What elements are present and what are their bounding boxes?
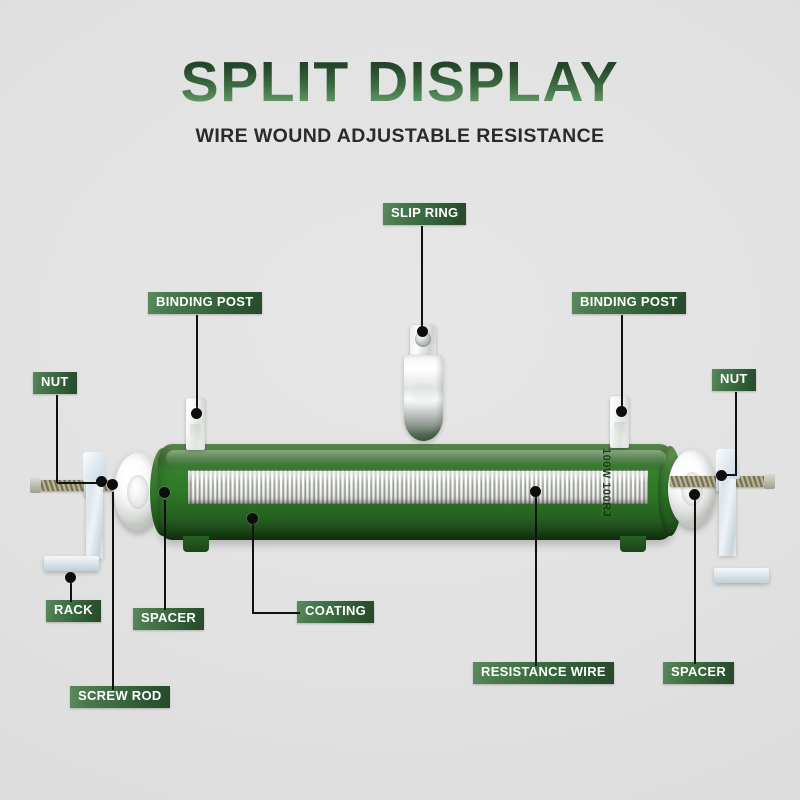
slip-ring-inner-highlight bbox=[411, 383, 436, 405]
resistance-wire-coil bbox=[188, 470, 648, 504]
callout-label-spacer-left: SPACER bbox=[133, 608, 204, 630]
body-lug-right bbox=[620, 536, 646, 552]
leader-dot-spacer-left bbox=[159, 487, 170, 498]
leader-line-spacer-right bbox=[694, 498, 696, 664]
callout-label-binding-post-right: BINDING POST bbox=[572, 292, 686, 314]
leader-dot-binding-post-left bbox=[191, 408, 202, 419]
callout-label-spacer-right: SPACER bbox=[663, 662, 734, 684]
product-diagram-canvas: SPLIT DISPLAY WIRE WOUND ADJUSTABLE RESI… bbox=[0, 0, 800, 800]
leader-dot-binding-post-right bbox=[616, 406, 627, 417]
leader-line-coating-h bbox=[252, 612, 300, 614]
leader-line-nut-right bbox=[735, 392, 737, 474]
callout-label-binding-post-left: BINDING POST bbox=[148, 292, 262, 314]
leader-line-binding-post-right bbox=[621, 315, 623, 411]
body-lug-left bbox=[183, 536, 209, 552]
leader-line-nut-left-h bbox=[57, 482, 101, 484]
rating-print: 100W 100RJ bbox=[590, 448, 612, 538]
callout-label-resistance-wire: RESISTANCE WIRE bbox=[473, 662, 614, 684]
leader-line-nut-left bbox=[56, 395, 58, 483]
leader-dot-slip-ring bbox=[417, 326, 428, 337]
leader-dot-spacer-right bbox=[689, 489, 700, 500]
rack-right-foot bbox=[714, 568, 769, 583]
leader-dot-rack bbox=[65, 572, 76, 583]
page-title: SPLIT DISPLAY bbox=[0, 54, 800, 111]
leader-line-slip-ring bbox=[421, 226, 423, 331]
leader-dot-coating bbox=[247, 513, 258, 524]
header: SPLIT DISPLAY WIRE WOUND ADJUSTABLE RESI… bbox=[0, 0, 800, 148]
rack-left-foot bbox=[44, 556, 99, 571]
leader-line-nut-right-h bbox=[721, 474, 737, 476]
callout-label-rack: RACK bbox=[46, 600, 101, 622]
page-subtitle: WIRE WOUND ADJUSTABLE RESISTANCE bbox=[0, 125, 800, 148]
leader-line-coating-v bbox=[252, 520, 254, 613]
callout-label-nut-right: NUT bbox=[712, 369, 756, 391]
callout-label-nut-left: NUT bbox=[33, 372, 77, 394]
callout-label-screw-rod: SCREW ROD bbox=[70, 686, 170, 708]
leader-line-resistance-wire bbox=[535, 492, 537, 666]
callout-label-slip-ring: SLIP RING bbox=[383, 203, 466, 225]
leader-line-screw-rod bbox=[112, 492, 114, 690]
screw-rod-cap-left bbox=[30, 478, 41, 493]
leader-line-spacer-left bbox=[164, 500, 166, 610]
leader-line-binding-post-left bbox=[196, 315, 198, 413]
binding-post-right bbox=[610, 396, 629, 448]
leader-dot-screw-rod bbox=[107, 479, 118, 490]
screw-rod-cap-right bbox=[764, 474, 775, 489]
spacer-left-hub bbox=[127, 475, 149, 509]
callout-label-coating: COATING bbox=[297, 601, 374, 623]
leader-dot-resistance-wire bbox=[530, 486, 541, 497]
